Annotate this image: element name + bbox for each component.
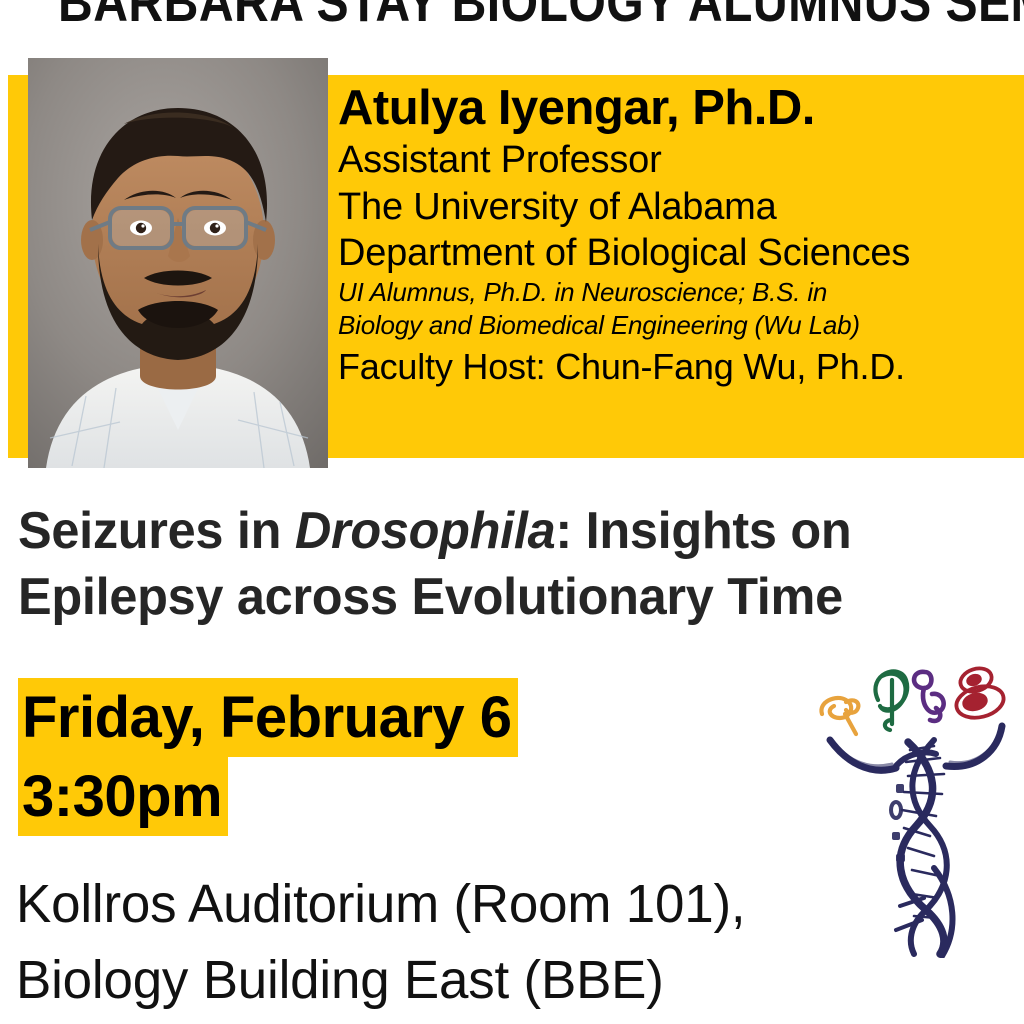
speaker-photo (28, 58, 328, 468)
talk-title-line-1-pre: Seizures in (18, 502, 295, 560)
orange-organism-glyph (821, 698, 858, 734)
event-date: Friday, February 6 (18, 678, 518, 757)
event-location: Kollros Auditorium (Room 101), Biology B… (16, 866, 898, 1018)
speaker-department: Department of Biological Sciences (338, 230, 1020, 276)
speaker-name: Atulya Iyengar, Ph.D. (338, 80, 1020, 136)
speaker-details: Atulya Iyengar, Ph.D. Assistant Professo… (338, 80, 1020, 389)
green-organism-glyph (875, 671, 907, 730)
speaker-rank: Assistant Professor (338, 136, 1020, 184)
speaker-institution: The University of Alabama (338, 184, 1020, 230)
talk-title: Seizures in Drosophila: Insights on Epil… (18, 498, 969, 630)
faculty-host: Faculty Host: Chun-Fang Wu, Ph.D. (338, 344, 1020, 389)
talk-title-line-1-post: : Insights on (555, 502, 851, 560)
talk-title-line-2: Epilepsy across Evolutionary Time (18, 564, 969, 630)
speaker-credentials-line-2: Biology and Biomedical Engineering (Wu L… (338, 309, 1020, 342)
purple-organism-glyph (914, 672, 944, 721)
event-location-line-2: Biology Building East (BBE) (16, 942, 898, 1018)
seminar-series-banner: BARBARA STAY BIOLOGY ALUMNUS SEMINAR (0, 0, 1024, 34)
event-time: 3:30pm (18, 757, 228, 836)
talk-title-species: Drosophila (295, 502, 556, 560)
talk-title-line-1: Seizures in Drosophila: Insights on (18, 498, 969, 564)
speaker-credentials-line-1: UI Alumnus, Ph.D. in Neuroscience; B.S. … (338, 276, 1020, 309)
event-datetime: Friday, February 6 3:30pm (18, 678, 578, 836)
red-organism-glyph (953, 665, 1007, 723)
seminar-series-title: BARBARA STAY BIOLOGY ALUMNUS SEMINAR (58, 0, 873, 30)
juggler-dna-logo (812, 658, 1018, 958)
event-location-line-1: Kollros Auditorium (Room 101), (16, 866, 898, 942)
